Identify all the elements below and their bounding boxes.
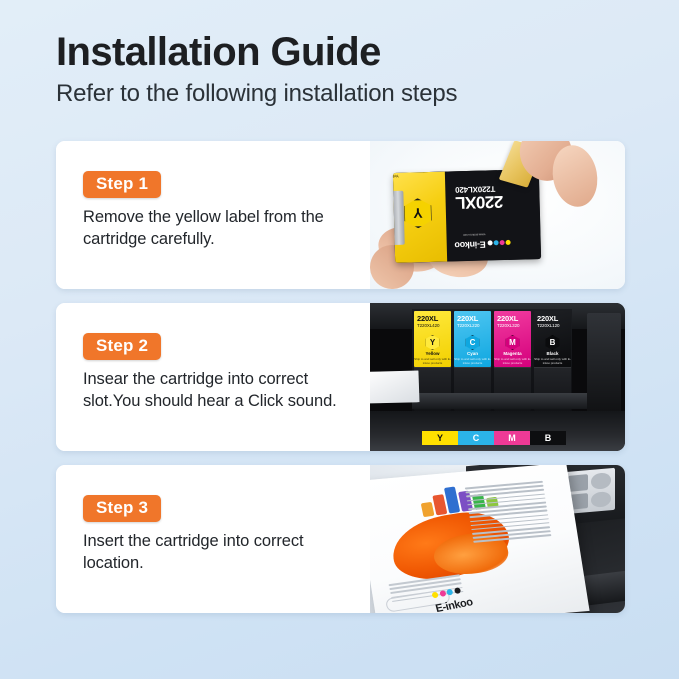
fine-print: Ship to and sell only with E-inkoo produ… [494,358,531,366]
fine-print: Ship to and sell only with E-inkoo produ… [534,358,571,366]
model-big: 220XL [537,314,571,323]
cartridge-model-block: 220XL T220XL420 [455,183,528,210]
model-small: T220XL420 [417,323,451,328]
color-name: Magenta [494,351,531,356]
brand-name: E-inkoo [434,596,474,613]
printed-text-block [465,481,552,546]
cartridge-label: 220XL T220XL420 Y Yellow Ship to and sel… [414,311,451,367]
model-small: T220XL320 [497,323,531,328]
page-subtitle: Refer to the following installation step… [56,80,616,108]
fine-print: Ship to and sell only with E-inkoo produ… [414,358,451,366]
photo-cartridges-in-carriage: 220XL T220XL420 Y Yellow Ship to and sel… [370,303,625,451]
step-3-text-panel: Step 3 Insert the cartridge into correct… [56,465,370,613]
step-3-photo: E-inkoo www.einkoo.com [370,465,625,613]
printed-page: E-inkoo www.einkoo.com [370,465,590,613]
panel-stop-icon [591,491,611,508]
color-hexagon-icon: B [545,335,560,350]
cartridge-label: 220XL T220XL320 M Magenta Ship to and se… [494,311,531,367]
model-big: 220XL [417,314,451,323]
model-big: 220XL [457,314,491,323]
cartridge-model-big: 220XL [455,192,527,210]
step-card-3: Step 3 Insert the cartridge into correct… [56,465,625,613]
printer-side-wall [587,313,621,417]
cartridge-label: 220XL T220XL220 C Cyan Ship to and sell … [454,311,491,367]
cartridge-color-word: Yellow [393,174,399,179]
slot-label-y: Y [422,431,458,445]
step-2-photo: 220XL T220XL420 Y Yellow Ship to and sel… [370,303,625,451]
slot-color-strip: Y C M B [422,431,566,445]
model-small: T220XL120 [537,323,571,328]
cmyk-dots-icon [488,240,511,246]
step-2-text-panel: Step 2 Insear the cartridge into correct… [56,303,370,451]
brand-text-wrap: E-inkoo www.einkoo.com [454,233,485,256]
color-hexagon-icon: M [505,335,520,350]
slot-label-b: B [530,431,566,445]
step-card-2: Step 2 Insear the cartridge into correct… [56,303,625,451]
color-hexagon-icon: C [465,335,480,350]
page-header: Installation Guide Refer to the followin… [56,30,616,108]
page-title: Installation Guide [56,30,616,74]
cartridge-brand-logo: E-inkoo www.einkoo.com [454,232,510,255]
color-name: Cyan [454,351,491,356]
color-name: Black [534,351,571,356]
step-3-description: Insert the cartridge into correct locati… [83,531,355,575]
brand-name: E-inkoo [455,240,486,251]
step-1-text-panel: Step 1 Remove the yellow label from the … [56,141,370,289]
panel-button-icon [568,474,588,491]
step-1-description: Remove the yellow label from the cartrid… [83,207,355,251]
slot-label-c: C [458,431,494,445]
installation-guide-page: Installation Guide Refer to the followin… [0,0,679,679]
photo-hand-peeling-label: Yellow Y 220XL T220XL420 [370,141,625,289]
carriage-rail [412,393,615,409]
cartridge-nozzle [393,191,405,245]
step-1-photo: Yellow Y 220XL T220XL420 [370,141,625,289]
brand-tagline: www.einkoo.com [454,233,485,238]
step-2-badge: Step 2 [83,333,161,360]
cartridge-label: 220XL T220XL120 B Black Ship to and sell… [534,311,571,367]
paper-guide [370,366,422,408]
model-small: T220XL220 [457,323,491,328]
fine-print: Ship to and sell only with E-inkoo produ… [454,358,491,366]
cartridge-color-letter: Y [405,200,432,227]
model-big: 220XL [497,314,531,323]
slot-label-m: M [494,431,530,445]
step-3-badge: Step 3 [83,495,161,522]
cartridge-color-hexagon: Y [403,198,434,229]
photo-printed-page-ejecting: E-inkoo www.einkoo.com [370,465,625,613]
cartridge-model-small: T220XL420 [455,183,527,194]
step-card-1: Step 1 Remove the yellow label from the … [56,141,625,289]
step-1-badge: Step 1 [83,171,161,198]
color-name: Yellow [414,351,451,356]
panel-power-icon [591,472,611,489]
color-hexagon-icon: Y [425,335,440,350]
step-2-description: Insear the cartridge into correct slot.Y… [83,369,355,413]
